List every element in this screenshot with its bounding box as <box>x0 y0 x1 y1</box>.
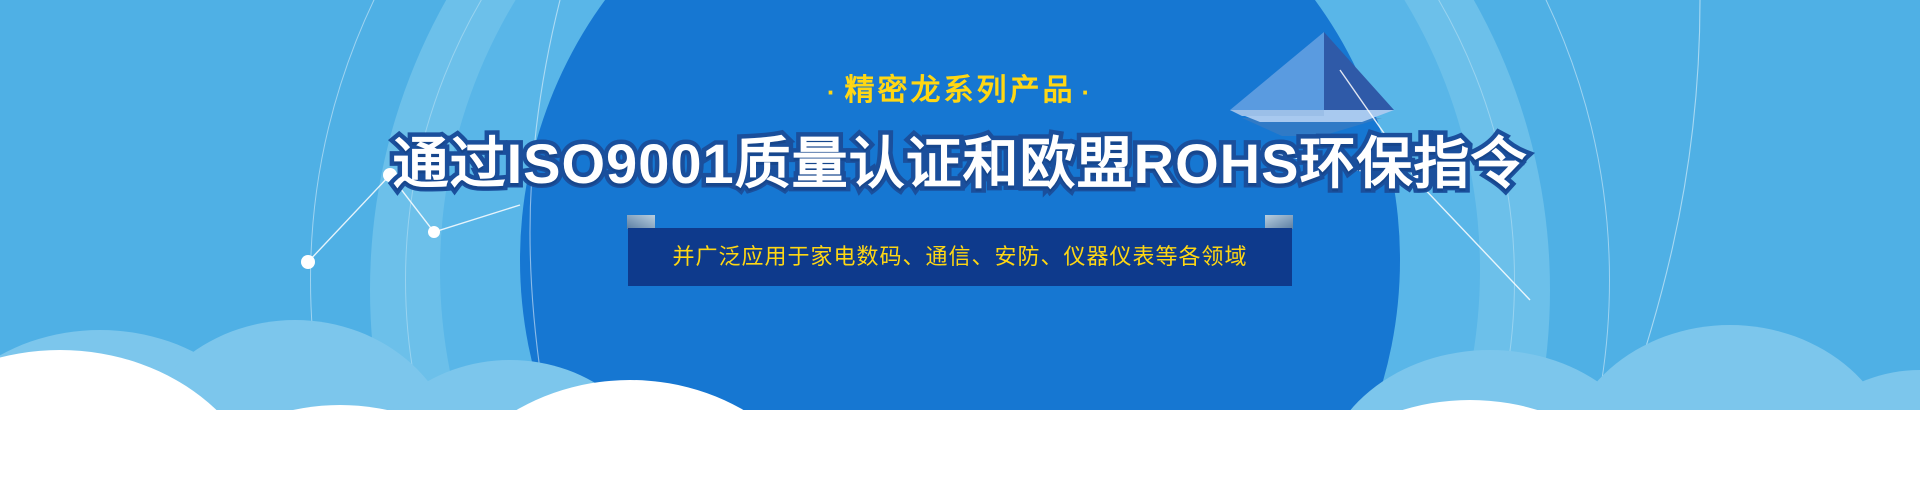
eyebrow-tagline: ·精密龙系列产品· <box>0 76 1920 106</box>
ribbon-fold-left-icon <box>627 215 655 229</box>
headline-title: 通过ISO9001质量认证和欧盟ROHS环保指令 <box>0 136 1920 192</box>
subtitle-text: 并广泛应用于家电数码、通信、安防、仪器仪表等各领域 <box>628 228 1291 286</box>
banner-content: ·精密龙系列产品· 通过ISO9001质量认证和欧盟ROHS环保指令 并广泛应用… <box>0 0 1920 286</box>
eyebrow-dot-right: · <box>1076 77 1100 107</box>
subtitle-ribbon: 并广泛应用于家电数码、通信、安防、仪器仪表等各领域 <box>628 228 1291 286</box>
eyebrow-text: 精密龙系列产品 <box>845 74 1076 107</box>
ribbon-fold-right-icon <box>1265 215 1293 229</box>
eyebrow-dot-left: · <box>821 77 845 107</box>
promo-banner: ·精密龙系列产品· 通过ISO9001质量认证和欧盟ROHS环保指令 并广泛应用… <box>0 0 1920 480</box>
